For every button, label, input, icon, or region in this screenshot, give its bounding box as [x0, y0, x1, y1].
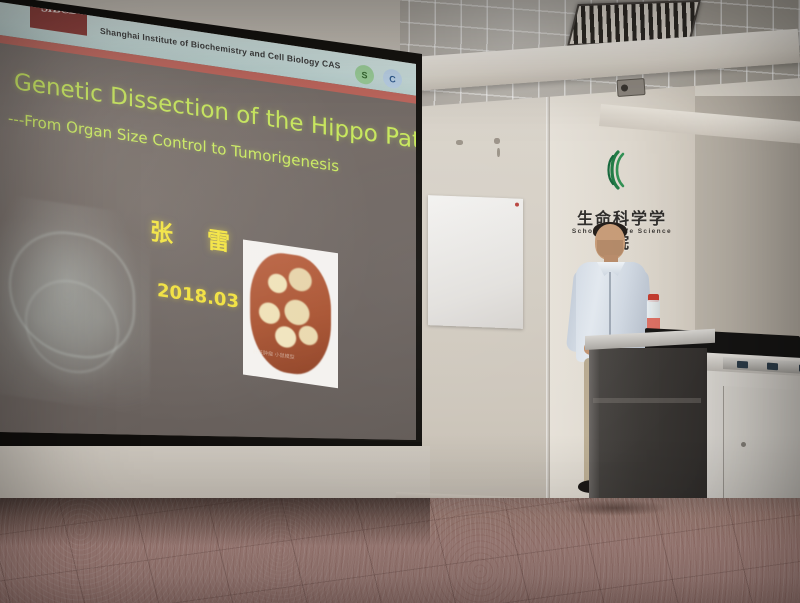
slide-tumor-photo: 肝脏肿瘤 小鼠模型	[243, 239, 338, 388]
lectern-port-1[interactable]	[737, 361, 748, 369]
lectern-door-knob	[741, 442, 746, 447]
wall-scuff-3	[497, 148, 500, 157]
lectern-port-2[interactable]	[767, 363, 778, 371]
lectern	[585, 336, 800, 516]
slide-tissue-image	[0, 193, 150, 416]
slide-date: 2018.03	[157, 280, 239, 313]
presenter-floor-shadow	[560, 500, 670, 516]
ceiling-speaker-icon	[616, 78, 645, 97]
wall-scuff-1	[456, 140, 463, 145]
projected-slide-surface: SIBCB Shanghai Institute of Biochemistry…	[0, 0, 418, 443]
lectern-cabinet-door	[723, 386, 800, 513]
wall-poster	[428, 195, 523, 329]
green-leaf-logo-icon	[603, 150, 633, 190]
wall-scuff-2	[494, 138, 500, 144]
presentation-slide: SIBCB Shanghai Institute of Biochemistry…	[0, 0, 418, 443]
lectern-podium-body	[589, 348, 707, 504]
lectern-shelf	[593, 398, 701, 403]
lecture-hall-photo: 生命科学学院 School of Life Science	[0, 0, 800, 603]
wall-pilaster-edge	[546, 78, 550, 540]
slide-author-name: 张 雷	[150, 212, 243, 260]
projection-screen: SIBCB Shanghai Institute of Biochemistry…	[0, 0, 418, 443]
lectern-podium-edge	[589, 348, 599, 504]
floor-shadow-left	[0, 498, 430, 546]
